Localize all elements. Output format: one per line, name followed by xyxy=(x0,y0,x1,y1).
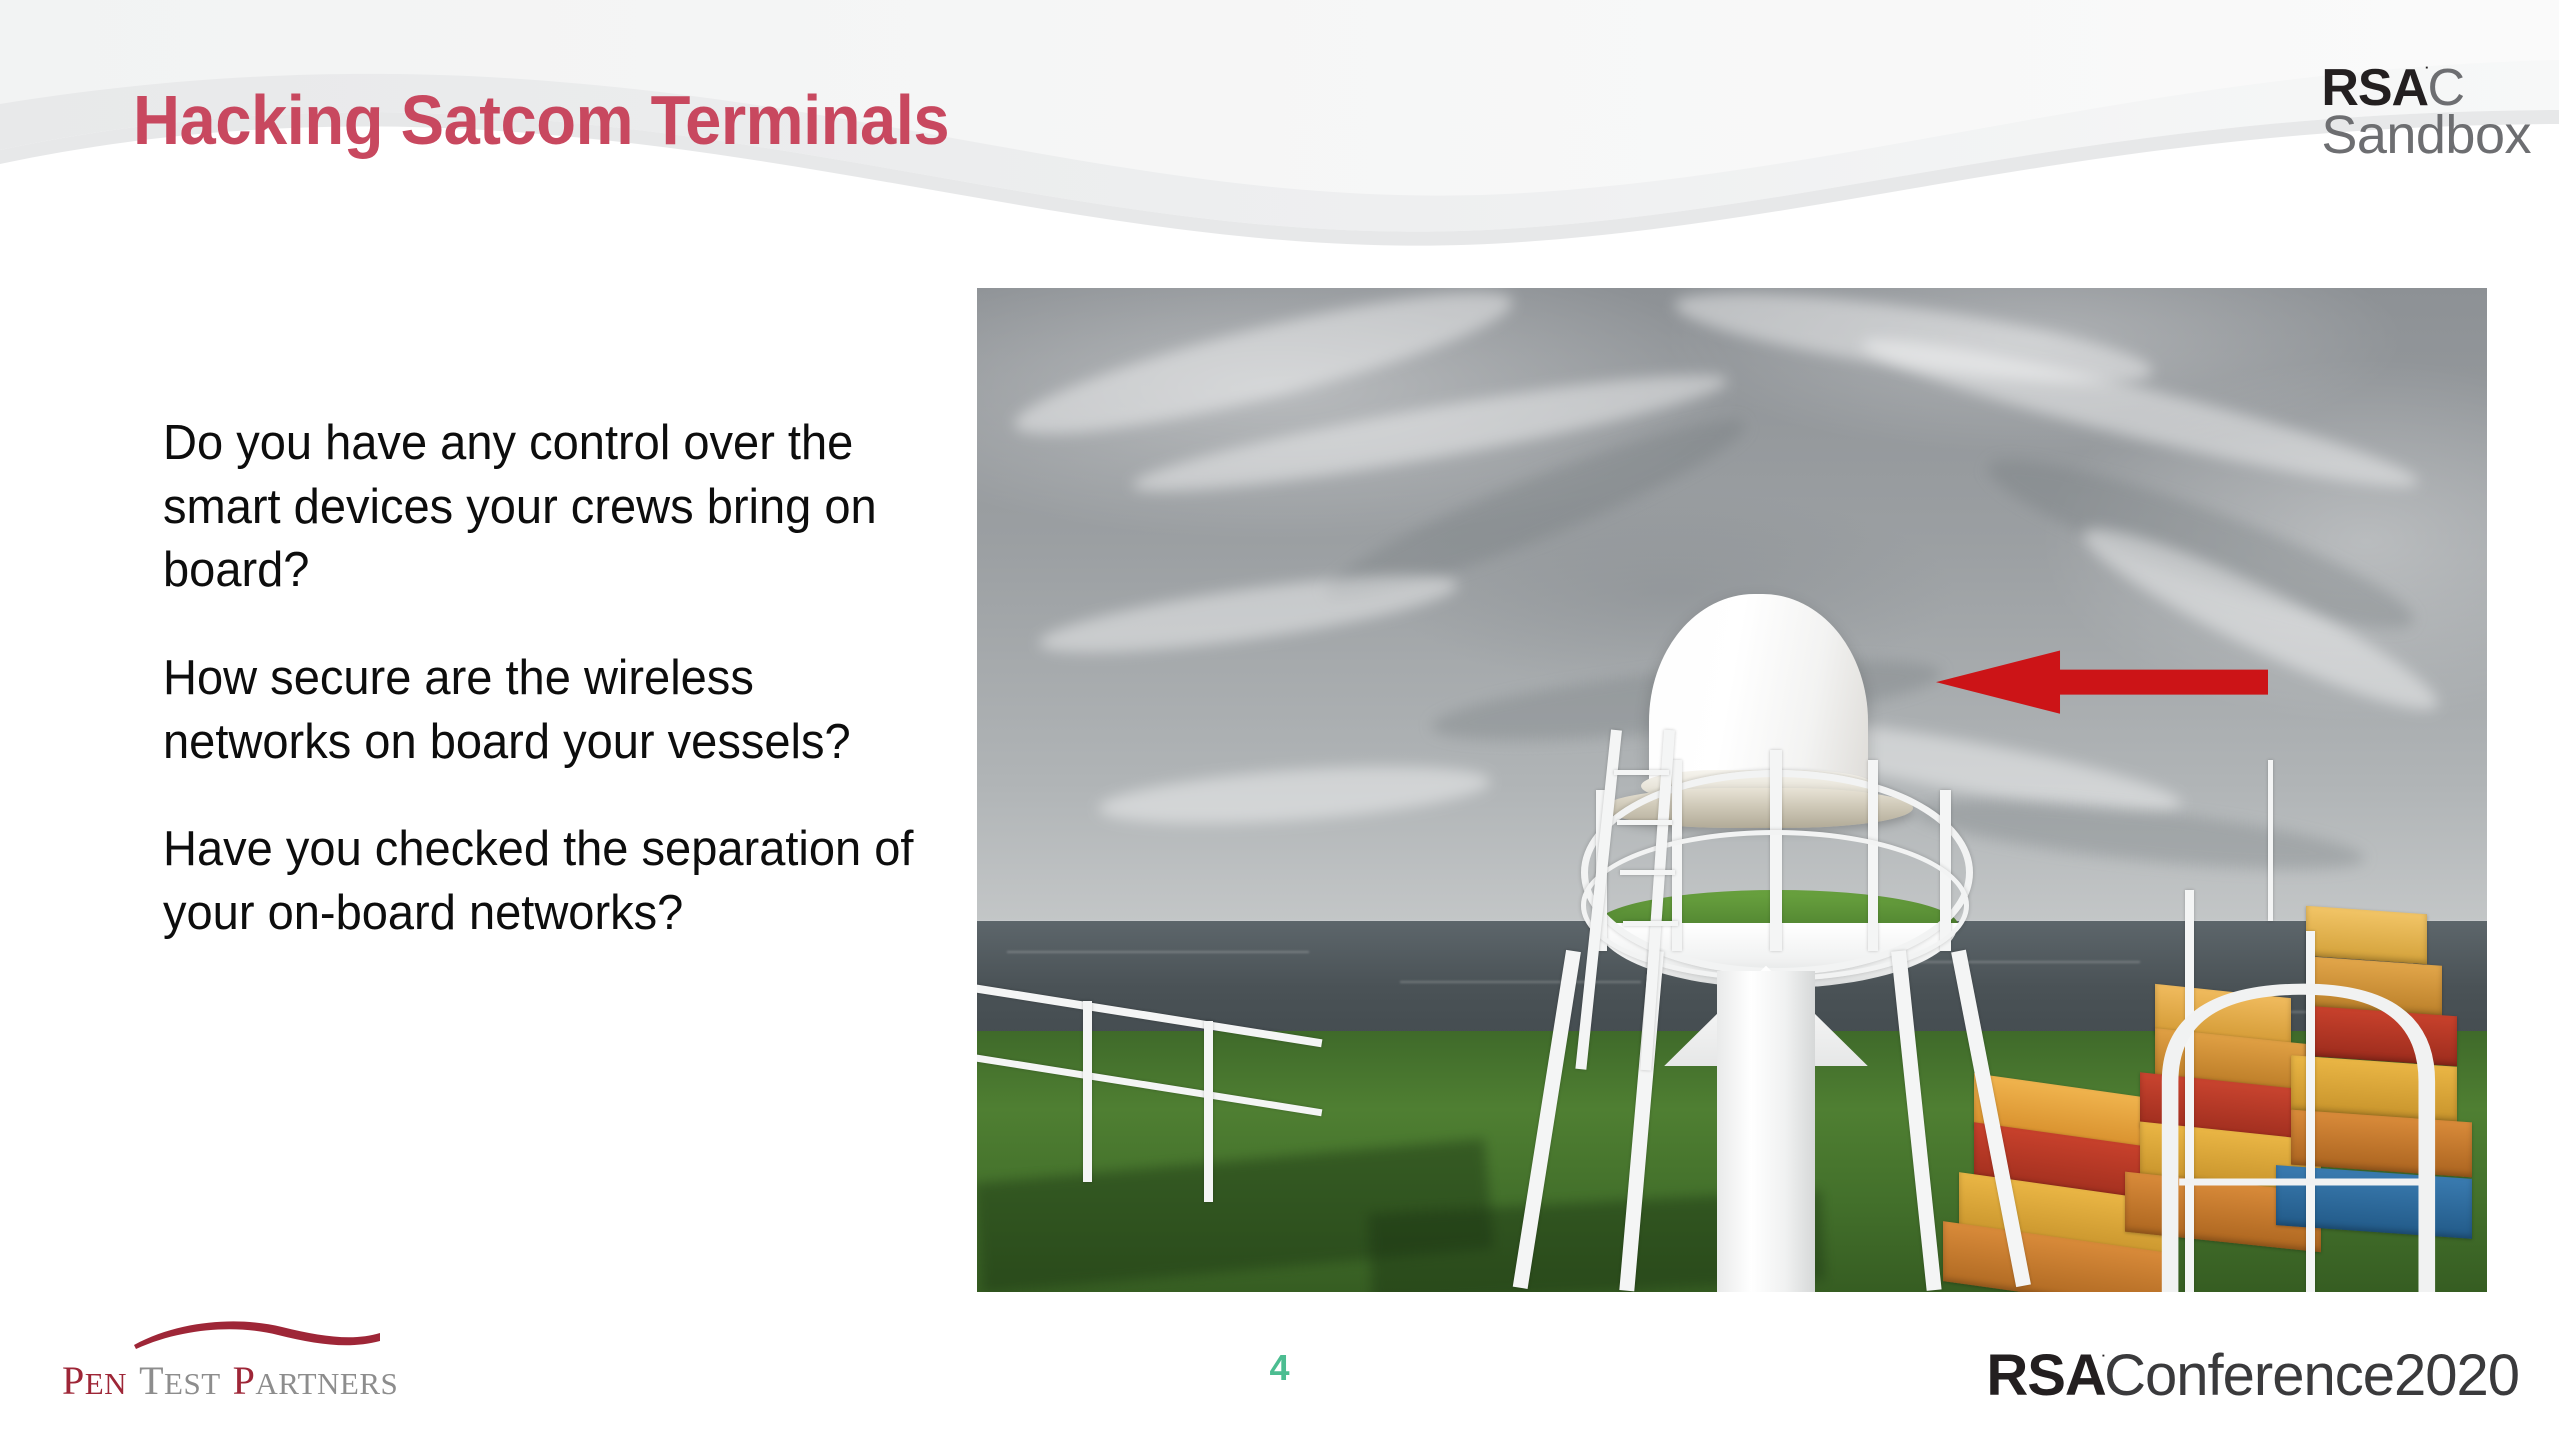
ladder-rung xyxy=(1617,820,1671,825)
bow-rail-arc xyxy=(2155,931,2487,1292)
ladder-rung xyxy=(1614,770,1668,775)
sea-glint xyxy=(1007,951,1309,953)
rsa-conf-dot-icon: ˙ xyxy=(2101,1351,2107,1376)
body-paragraph-2: How secure are the wireless networks on … xyxy=(163,647,921,774)
presentation-slide: Hacking Satcom Terminals RSA˙C Sandbox D… xyxy=(0,0,2559,1439)
sea-glint xyxy=(1400,981,1642,983)
pen-test-partners-swoosh-icon xyxy=(132,1315,382,1349)
rsac-sandbox-logo: RSA˙C Sandbox xyxy=(2321,62,2531,162)
body-paragraph-1: Do you have any control over the smart d… xyxy=(163,412,921,603)
body-paragraph-3: Have you checked the separation of your … xyxy=(163,818,921,945)
rsa-conf-rsa-text: RSA xyxy=(1986,1343,2105,1408)
mast-pedestal xyxy=(1717,971,1815,1292)
platform-midrail xyxy=(1581,830,1969,981)
deck-railing-post xyxy=(1083,1001,1092,1182)
rsac-logo-dot-icon: ˙ xyxy=(2424,63,2430,88)
antenna-whip xyxy=(2268,760,2273,921)
deck-railing-post xyxy=(1204,1021,1213,1202)
body-text-block: Do you have any control over the smart d… xyxy=(163,412,953,946)
ladder-rung xyxy=(1623,921,1677,926)
ladder-rung xyxy=(1620,870,1674,875)
page-title: Hacking Satcom Terminals xyxy=(133,85,949,155)
red-arrow-annotation xyxy=(1936,649,2268,715)
rsa-conference-2020-logo: RSA˙Conference2020 xyxy=(1986,1347,2519,1405)
rsac-sandbox-logo-sandbox-text: Sandbox xyxy=(2321,108,2531,162)
satcom-radome-photo xyxy=(977,288,2487,1292)
rsa-conf-conference-text: Conference2020 xyxy=(2104,1343,2519,1408)
